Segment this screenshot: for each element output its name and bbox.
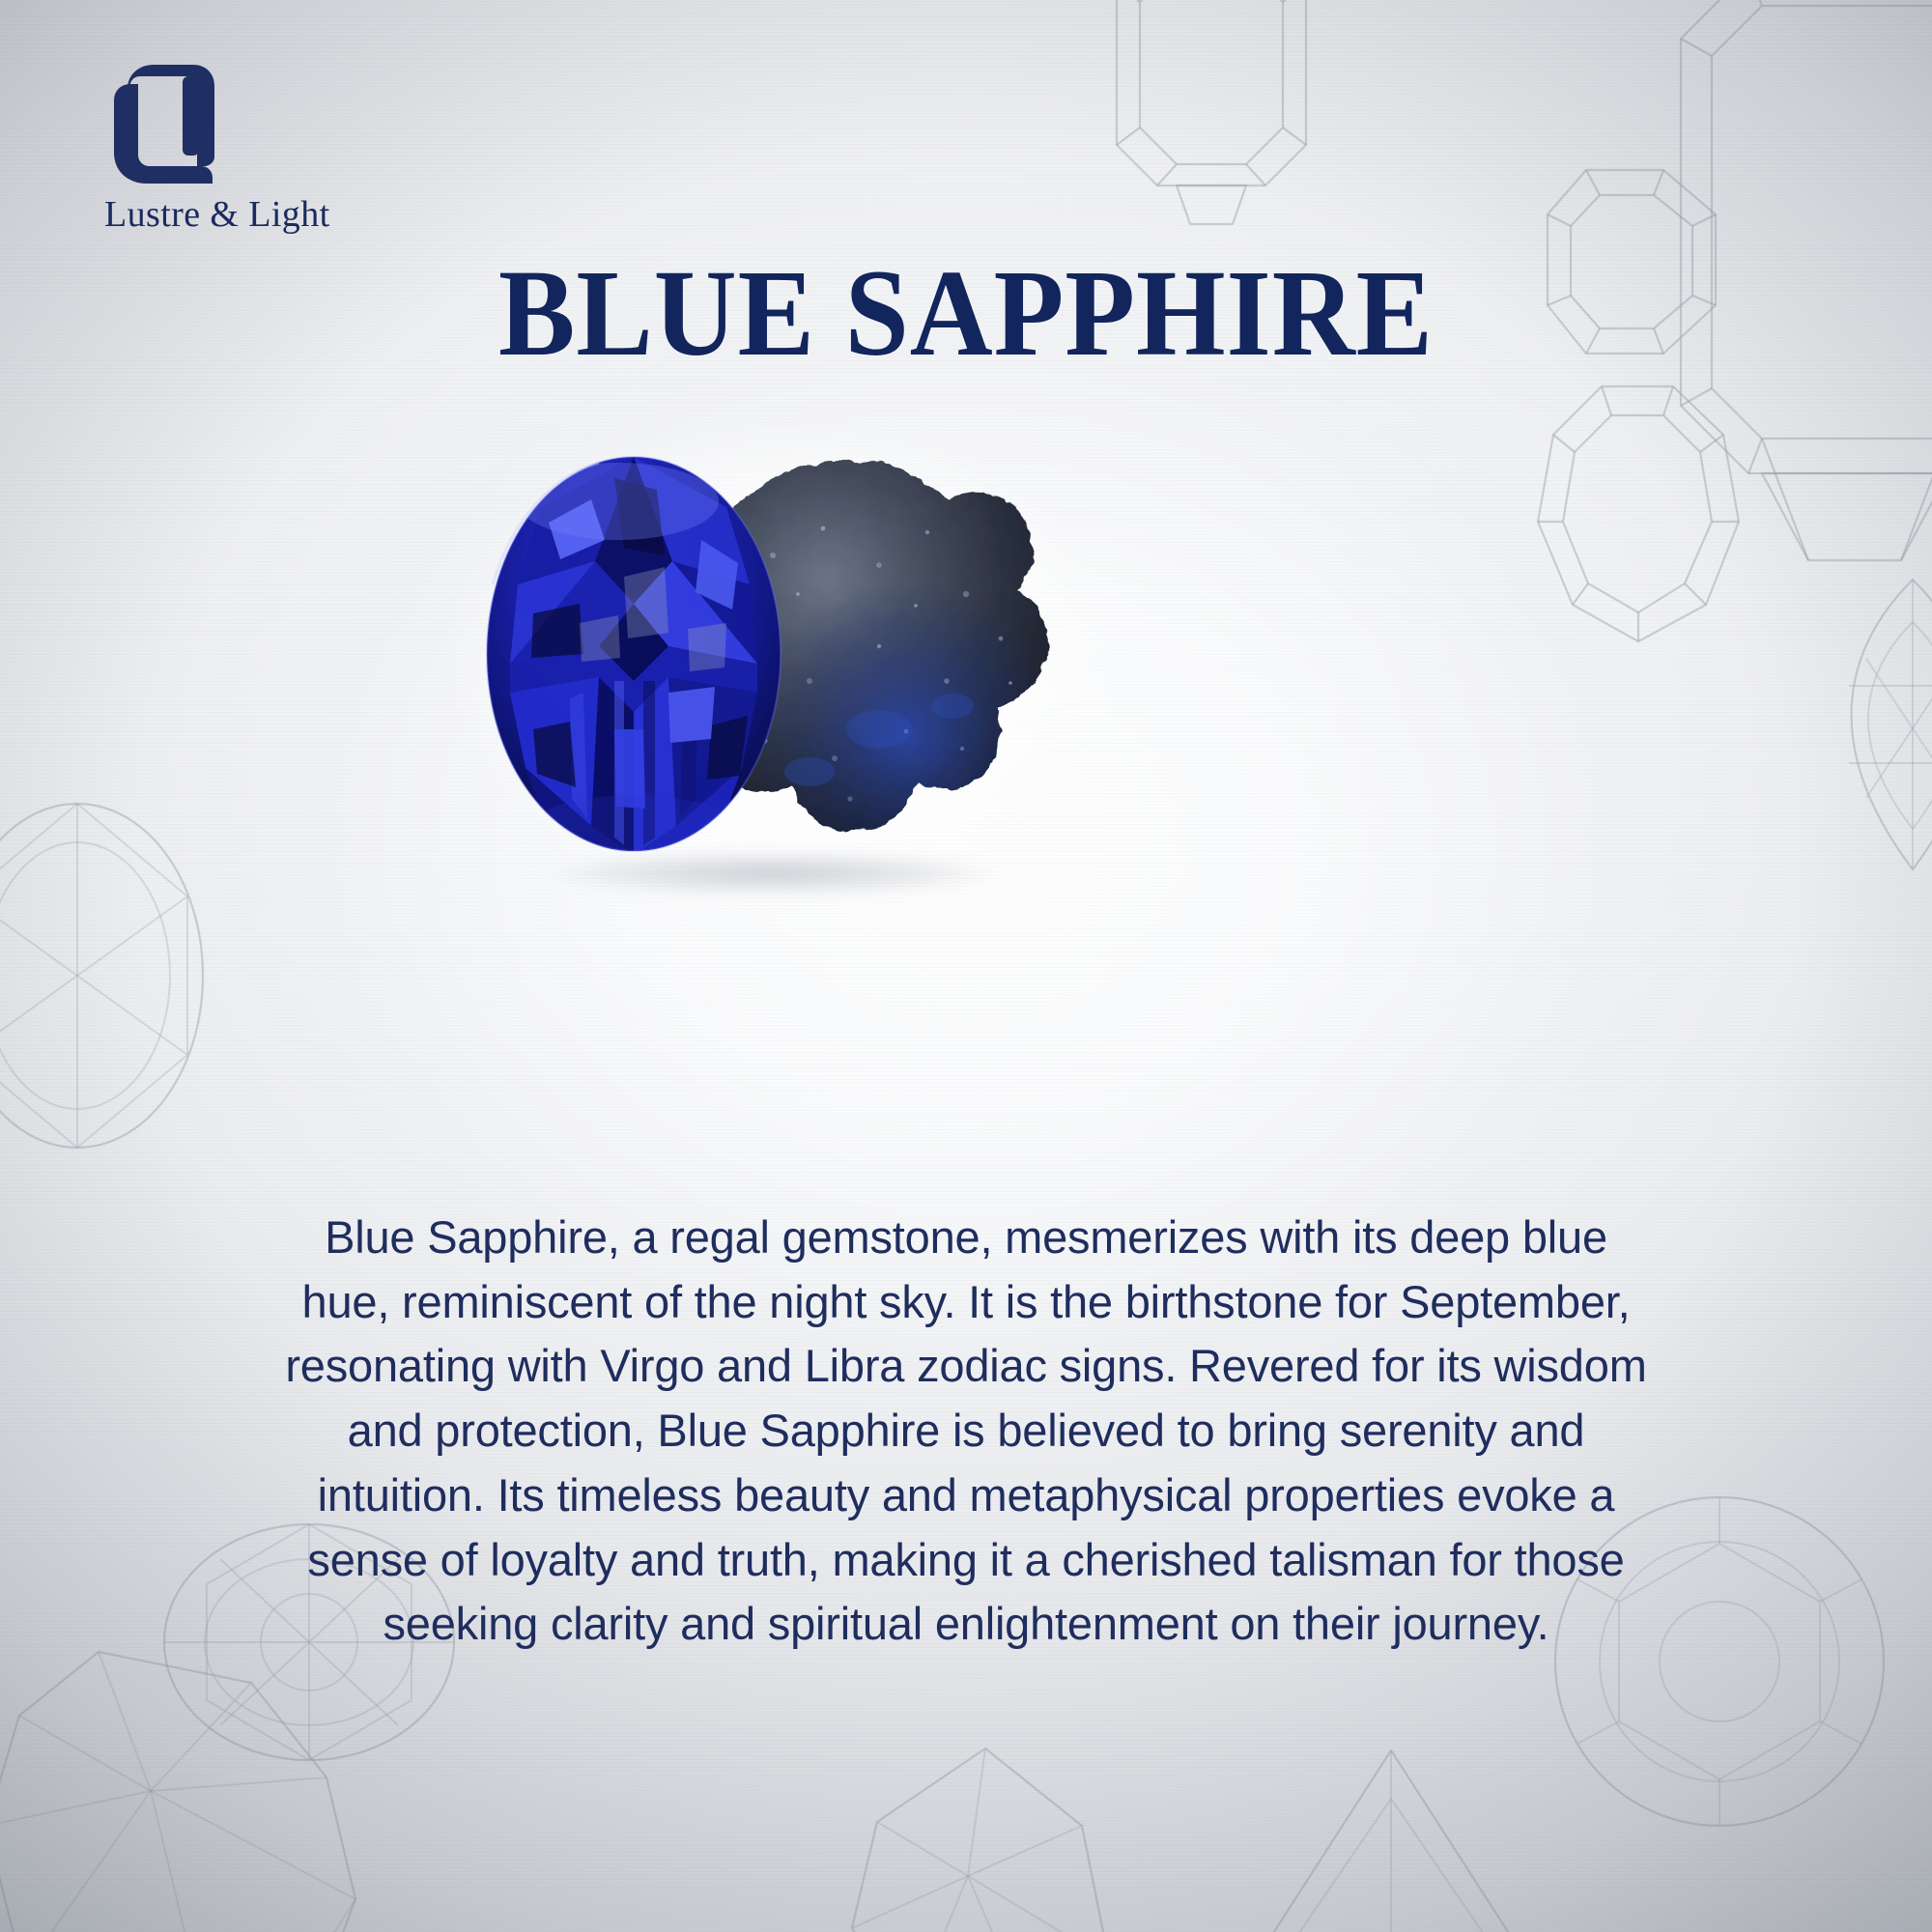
gem-outline-oval-rose-icon [1517,377,1758,657]
gem-outline-oval-left-icon [0,792,251,1198]
gem-outline-crystal-shard-icon [792,1739,1179,1932]
description-paragraph: Blue Sapphire, a regal gemstone, mesmeri… [280,1206,1652,1657]
oval-cut-blue-sapphire-icon [425,440,1130,894]
gemstone-hero-image [425,440,1130,894]
gem-outline-trillion-icon [1246,1729,1536,1932]
gem-outline-marquise-icon [1748,570,1932,889]
brand-logo[interactable]: Lustre & Light [104,56,375,236]
gem-outline-pear-rough-icon [0,1633,444,1932]
page-title: BLUE SAPPHIRE [68,249,1864,378]
poster-canvas: Lustre & Light BLUE SAPPHIRE [0,0,1932,1932]
bracket-monogram-icon [108,56,220,184]
gem-outline-octagon-top-icon [1082,0,1372,251]
brand-wordmark: Lustre & Light [104,193,375,236]
